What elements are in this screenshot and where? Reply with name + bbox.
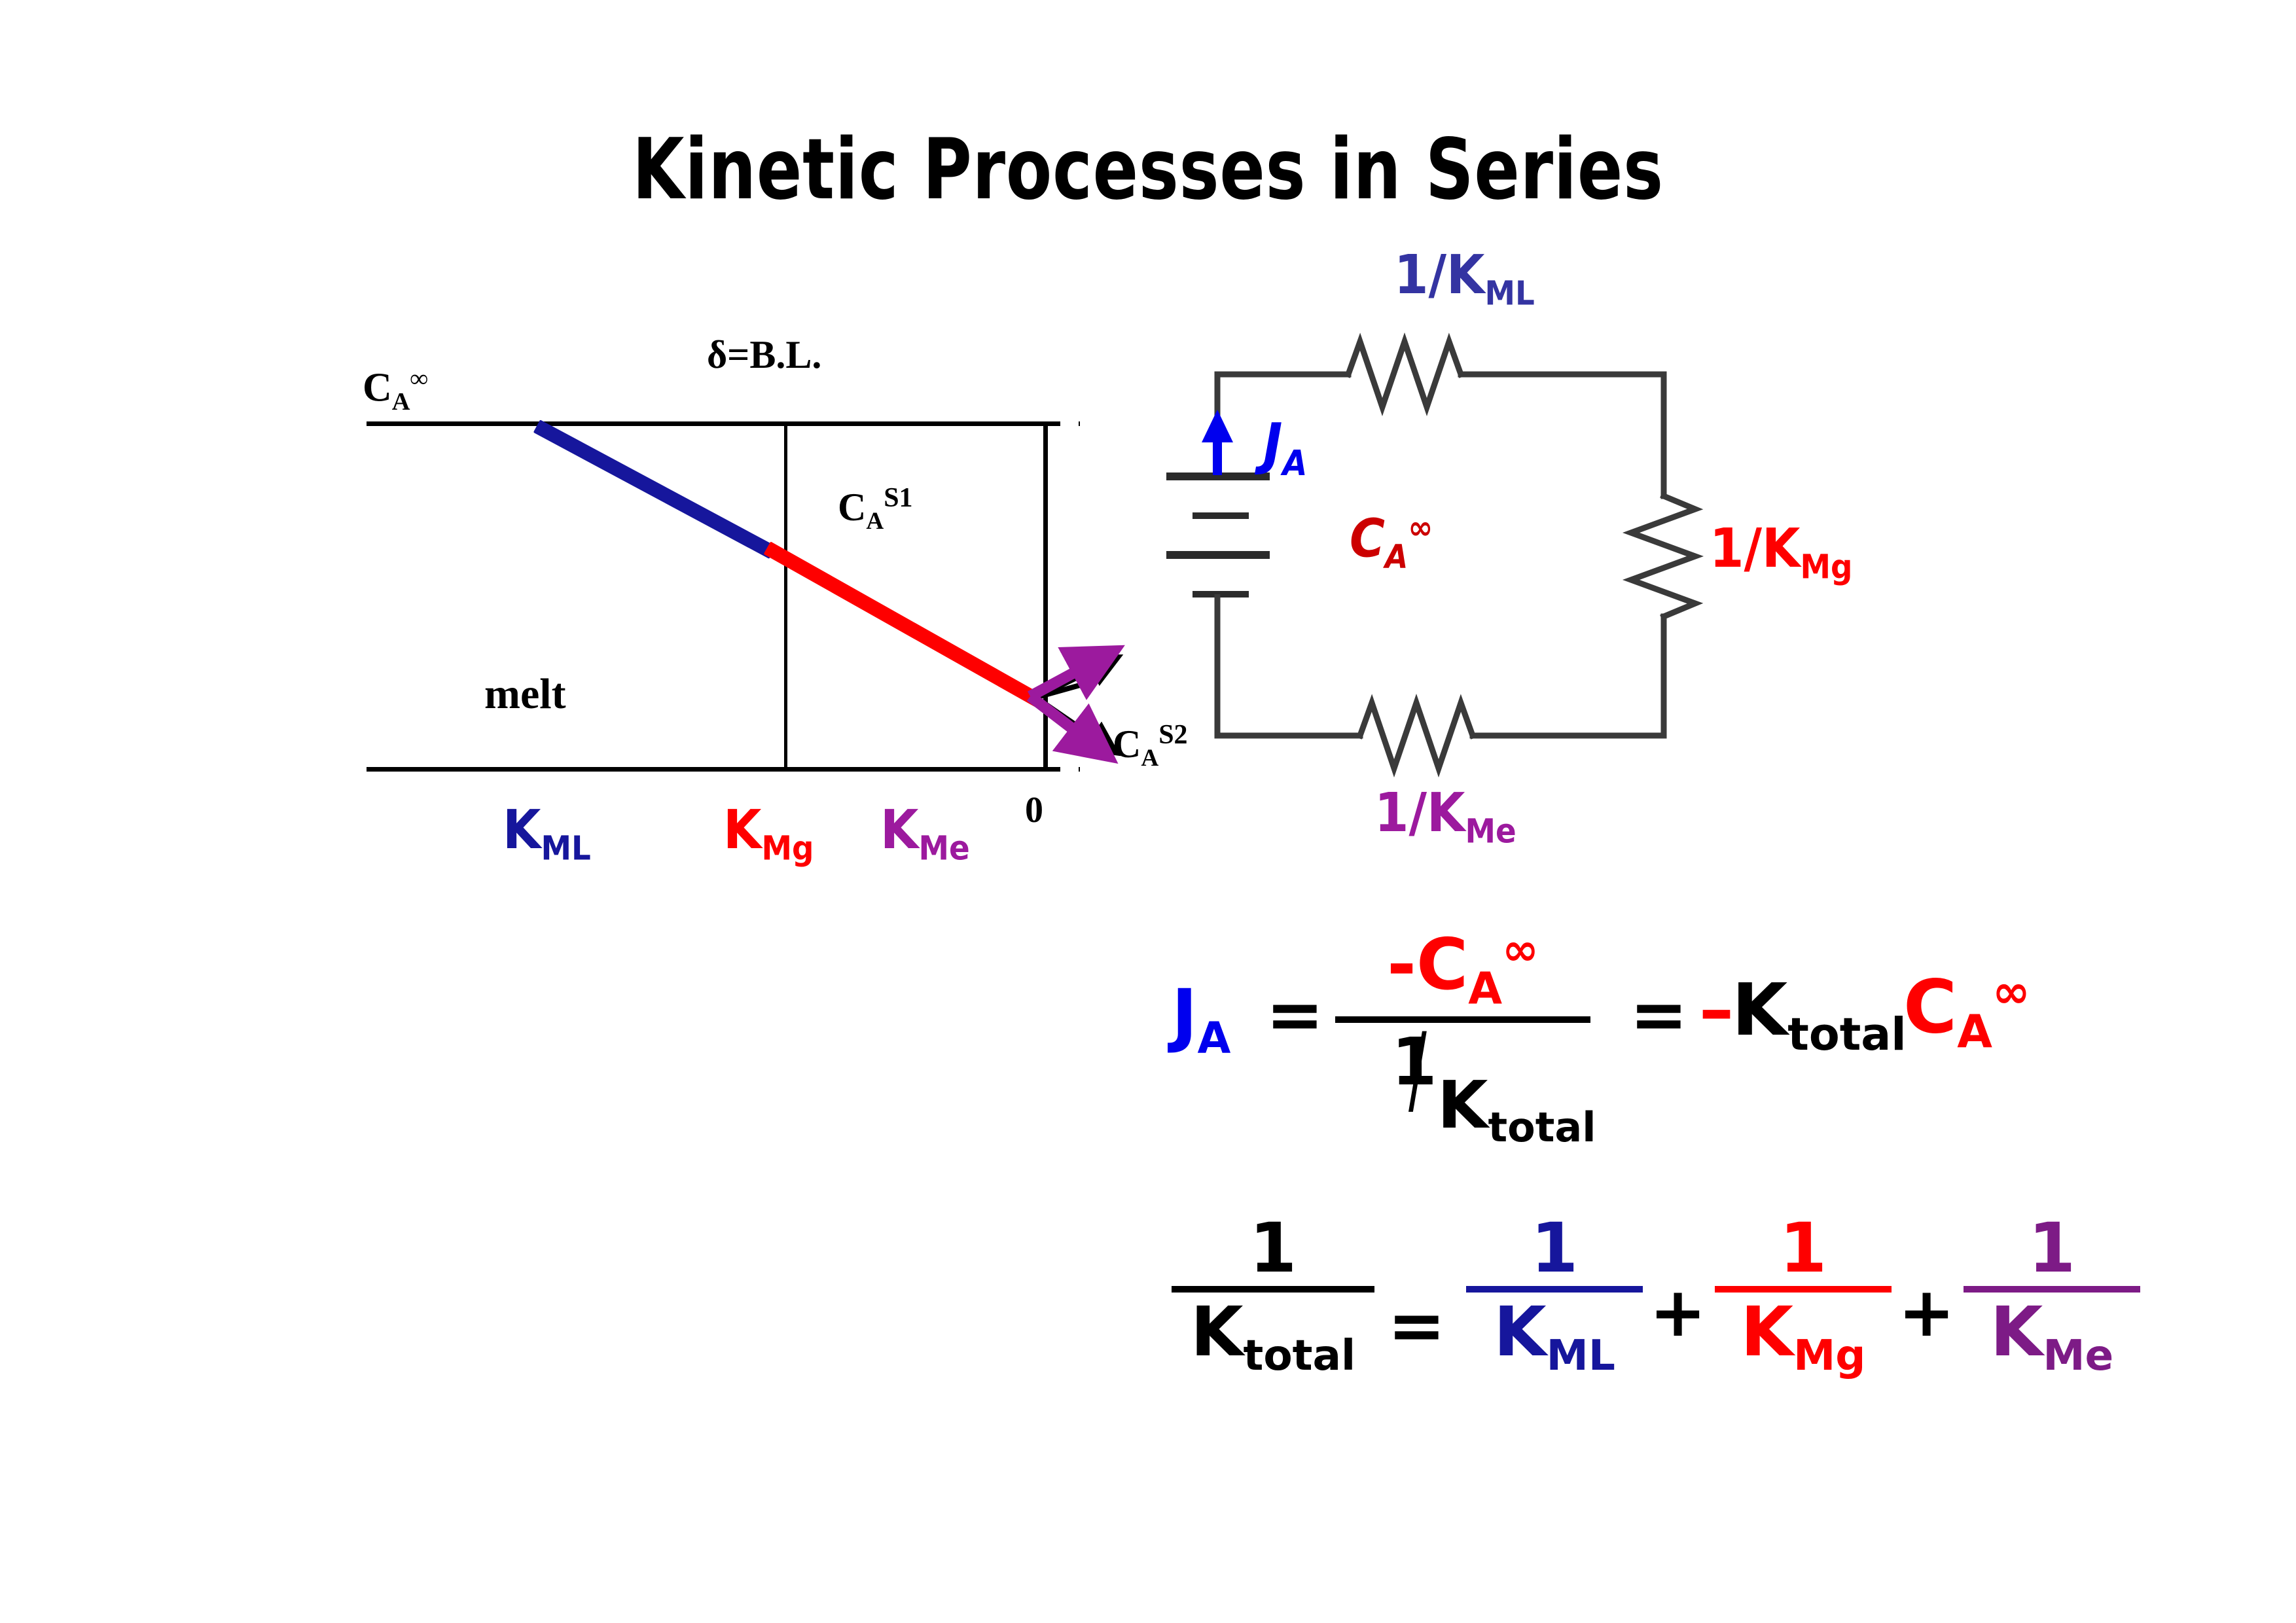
bulk-level-line — [367, 421, 1047, 426]
battery-plates — [1166, 476, 1270, 594]
eq-sum-lhs-den: Ktotal — [1172, 1298, 1374, 1377]
eq-sum-term-kml: 1 KML — [1466, 1214, 1643, 1377]
boundary-layer-label: δ=B.L. — [707, 335, 821, 374]
current-arrow-ja — [1202, 410, 1233, 475]
eq-sum-term-kmg-num: 1 — [1715, 1214, 1892, 1282]
eq-flux-rhs-sign: – — [1699, 975, 1734, 1044]
melt-label: melt — [484, 673, 566, 716]
evaporation-arrow-down — [1030, 696, 1092, 743]
eq-flux-denominator: 1 / Ktotal — [1335, 1029, 1590, 1147]
evaporation-arrow-up — [1030, 661, 1096, 696]
rate-constant-kme: KMe — [880, 804, 970, 865]
eq-flux-rhs-ktotal: Ktotal — [1732, 974, 1907, 1058]
equivalent-circuit-diagram: 1/KML 1/KMg 1/KMe JA CA∞ — [1178, 347, 1767, 766]
origin-label: 0 — [1025, 792, 1043, 829]
eq-sum-term-kme-num: 1 — [1964, 1214, 2140, 1282]
source-label-ca-inf: CA∞ — [1350, 512, 1433, 573]
eq-flux-lhs: JA — [1172, 980, 1230, 1061]
eq-flux-den-ktotal: Ktotal — [1437, 1073, 1596, 1148]
resistor-right-label: 1/KMg — [1710, 522, 1853, 584]
eq-sum-term-kme-den: KMe — [1964, 1298, 2140, 1377]
slide-canvas: Kinetic Processes in Series — [0, 0, 2296, 1623]
eq-sum-term-kml-den: KML — [1466, 1298, 1643, 1377]
eq-sum-plus-1: + — [1649, 1278, 1706, 1346]
resistor-bottom-label: 1/KMe — [1374, 787, 1516, 848]
eq-sum-term-kmg: 1 KMg — [1715, 1214, 1892, 1377]
eq-sum-equals: = — [1388, 1291, 1446, 1361]
concentration-profile-diagram: CA∞ δ=B.L. CAS1 CAS2 melt 0 — [340, 353, 1060, 825]
bl-top-dashed-line — [995, 421, 1080, 426]
eq-sum-plus-2: + — [1898, 1278, 1955, 1346]
boundary-layer-inner-edge — [784, 421, 787, 770]
profile-segment-bulk — [533, 419, 776, 559]
surface-concentration-s1-label: CAS1 — [838, 484, 913, 533]
rate-constant-kmg: KMg — [723, 804, 814, 865]
rate-constant-kml: KML — [503, 804, 591, 865]
eq-sum-lhs-num: 1 — [1172, 1214, 1374, 1282]
eq-flux-numerator: -CA∞ — [1335, 928, 1590, 1011]
eq-sum-term-kmg-den: KMg — [1715, 1298, 1892, 1377]
eq-sum-lhs-fraction: 1 Ktotal — [1172, 1214, 1374, 1377]
eq-sum-term-kme: 1 KMe — [1964, 1214, 2140, 1377]
substrate-bottom-line — [367, 767, 1047, 772]
surface-concentration-s2-label: CAS2 — [1113, 721, 1188, 770]
resistor-top-label: 1/KML — [1394, 249, 1535, 310]
eq-flux-equals-1: = — [1266, 980, 1324, 1050]
eq-sum-term-kml-num: 1 — [1466, 1214, 1643, 1282]
bulk-concentration-label: CA∞ — [363, 366, 428, 414]
eq-flux-fraction: -CA∞ 1 / Ktotal — [1335, 928, 1590, 1147]
circuit-wires — [1178, 347, 1767, 766]
eq-flux-equals-2: = — [1630, 980, 1688, 1050]
eq-flux-rhs-ca: CA∞ — [1903, 970, 2030, 1056]
current-label-ja: JA — [1263, 416, 1307, 482]
page-title: Kinetic Processes in Series — [230, 121, 2066, 219]
eq-flux-fraction-bar — [1335, 1016, 1590, 1023]
eq-flux-den-slash: / — [1408, 1020, 1427, 1118]
